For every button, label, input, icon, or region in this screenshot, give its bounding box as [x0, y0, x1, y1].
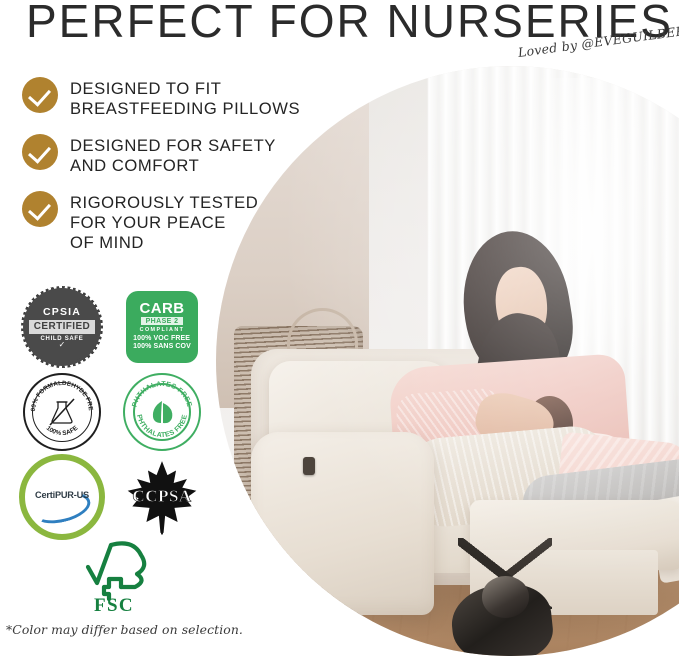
svg-text:100% SAFE: 100% SAFE [45, 424, 80, 437]
check-icon [22, 191, 58, 227]
feature-item: DESIGNED TO FIT BREASTFEEDING PILLOWS [22, 76, 302, 119]
svg-text:PHTHALATES FREE: PHTHALATES FREE [135, 413, 189, 438]
dog-head [482, 576, 529, 617]
feature-label: RIGOROUSLY TESTED FOR YOUR PEACE OF MIND [70, 190, 258, 253]
cpsia-line1: CPSIA [43, 306, 81, 318]
leaf-icon [153, 401, 172, 423]
ccpsa-label: CCPSA [132, 486, 191, 505]
ccpsa-badge: CCPSA [123, 458, 201, 536]
fsc-badge-wrapper: FSC [12, 534, 212, 612]
certification-badges: CPSIA CERTIFIED CHILD SAFE ✓ CARB PHASE … [12, 284, 212, 539]
check-icon [22, 134, 58, 170]
formaldehyde-free-badge: 100% FORMALDEHYDE FREE 100% SAFE [23, 373, 101, 451]
badge-cell: CUSHIONS BEDDING FLEXIBLE POLYURETHANE F… [12, 454, 112, 539]
formaldehyde-arc-bottom: 100% SAFE [45, 424, 80, 437]
check-icon [22, 77, 58, 113]
carb-line4: 100% VOC FREE 100% SANS COV [133, 335, 191, 352]
disclaimer-note: *Color may differ based on selection. [6, 622, 243, 637]
phthalates-text-arc: PHTHALATES FREE PHTHALATES FREE [125, 375, 199, 449]
fsc-badge: FSC [71, 537, 153, 609]
recliner-release-knob [303, 457, 315, 476]
badge-row: CUSHIONS BEDDING FLEXIBLE POLYURETHANE F… [12, 454, 212, 539]
certipur-label: CertiPUR-US [35, 490, 89, 500]
certipur-us-badge: CUSHIONS BEDDING FLEXIBLE POLYURETHANE F… [19, 454, 105, 540]
badge-cell: PHTHALATES FREE PHTHALATES FREE [112, 369, 212, 454]
carb-line3: COMPLIANT [140, 327, 185, 333]
phthalates-free-badge: PHTHALATES FREE PHTHALATES FREE [123, 373, 201, 451]
feature-list: DESIGNED TO FIT BREASTFEEDING PILLOWS DE… [22, 76, 302, 267]
carb-line2: PHASE 2 [141, 317, 184, 325]
cpsia-check-icon: ✓ [59, 342, 66, 348]
badge-row: CPSIA CERTIFIED CHILD SAFE ✓ CARB PHASE … [12, 284, 212, 369]
badge-cell: CCPSA [112, 454, 212, 539]
formaldehyde-text-arc: 100% FORMALDEHYDE FREE 100% SAFE [25, 375, 99, 449]
carb-phase-2-badge: CARB PHASE 2 COMPLIANT 100% VOC FREE 100… [126, 291, 198, 363]
badge-cell: CARB PHASE 2 COMPLIANT 100% VOC FREE 100… [112, 284, 212, 369]
svg-text:PHTHALATES FREE: PHTHALATES FREE [131, 380, 192, 407]
feature-label: DESIGNED FOR SAFETY AND COMFORT [70, 133, 276, 176]
cpsia-line2: CERTIFIED [29, 320, 95, 334]
feature-item: RIGOROUSLY TESTED FOR YOUR PEACE OF MIND [22, 190, 302, 253]
svg-text:100% FORMALDEHYDE FREE: 100% FORMALDEHYDE FREE [25, 375, 94, 412]
recliner-armrest [251, 432, 434, 615]
phthalates-arc-top: PHTHALATES FREE [131, 380, 192, 407]
formaldehyde-arc-top: 100% FORMALDEHYDE FREE [25, 375, 94, 412]
feature-item: DESIGNED FOR SAFETY AND COMFORT [22, 133, 302, 176]
carb-line1: CARB [140, 301, 185, 316]
fsc-label: FSC [94, 595, 134, 613]
product-feature-panel: PERFECT FOR NURSERIES Loved by @EVEGUILB… [0, 0, 679, 656]
badge-cell: CPSIA CERTIFIED CHILD SAFE ✓ [12, 284, 112, 369]
maple-leaf-icon: CCPSA [123, 458, 201, 536]
fsc-tree-check-icon: FSC [71, 537, 157, 613]
feature-label: DESIGNED TO FIT BREASTFEEDING PILLOWS [70, 76, 300, 119]
cpsia-certified-badge: CPSIA CERTIFIED CHILD SAFE ✓ [26, 291, 98, 363]
badge-row: 100% FORMALDEHYDE FREE 100% SAFE [12, 369, 212, 454]
flask-icon [50, 399, 74, 425]
phthalates-arc-bottom: PHTHALATES FREE [135, 413, 189, 438]
badge-cell: 100% FORMALDEHYDE FREE 100% SAFE [12, 369, 112, 454]
